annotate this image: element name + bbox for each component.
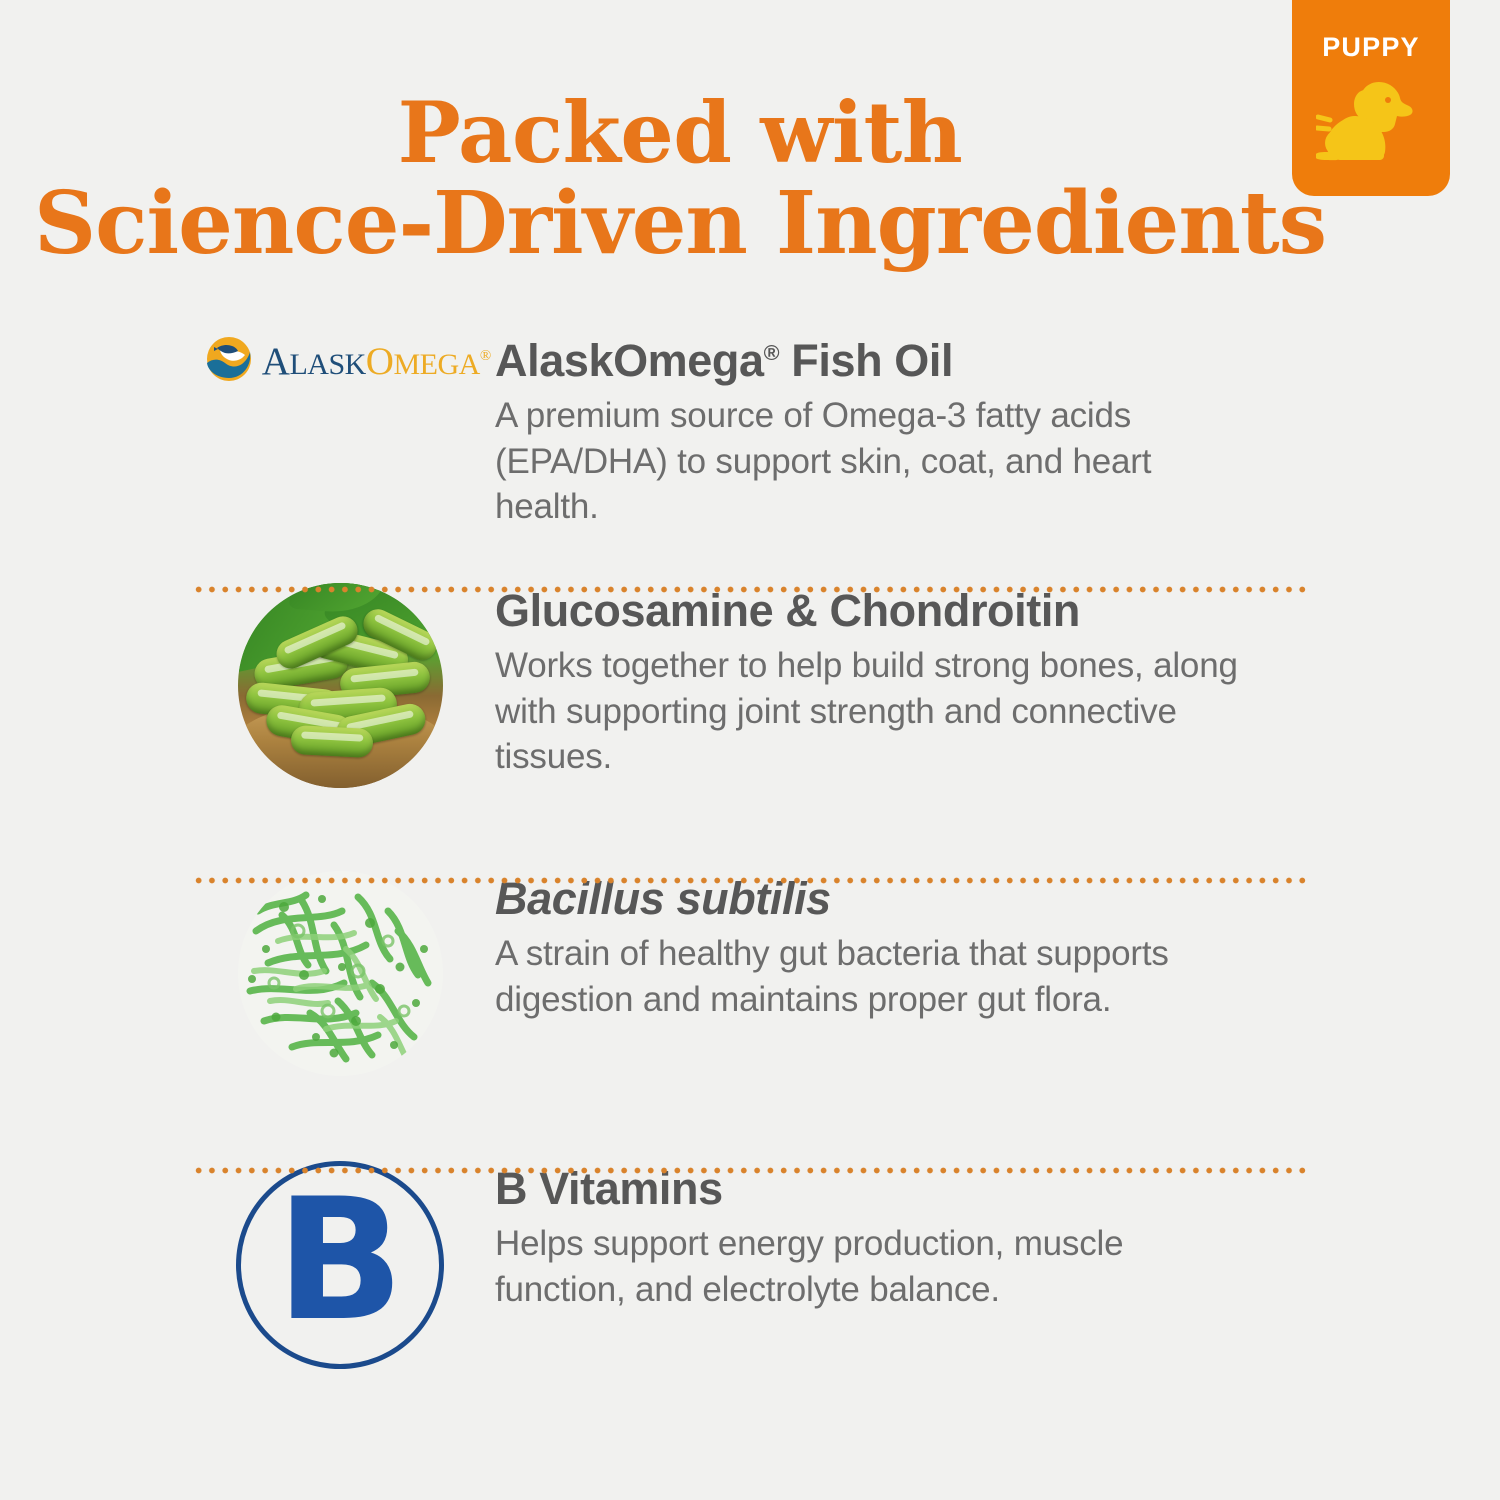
section-divider <box>192 876 1312 885</box>
list-item: ALASKOMEGA® AlaskOmega® Fish Oil A premi… <box>0 335 1500 583</box>
alaskomega-mark-icon <box>205 335 253 388</box>
alaskomega-logo: ALASKOMEGA® <box>205 335 491 388</box>
ingredient-description: A premium source of Omega-3 fatty acids … <box>495 393 1250 530</box>
ingredient-text: Glucosamine & Chondroitin Works together… <box>495 583 1500 780</box>
alaskomega-word-1: ALASK <box>262 340 366 383</box>
list-item: Bacillus subtilis A strain of healthy gu… <box>0 871 1500 1161</box>
ingredient-media <box>185 871 495 1076</box>
ingredient-description: Works together to help build strong bone… <box>495 643 1275 780</box>
page-title: Packed with Science-Driven Ingredients <box>0 88 1360 270</box>
b-vitamin-icon: B <box>236 1161 444 1369</box>
ingredient-text: AlaskOmega® Fish Oil A premium source of… <box>495 335 1500 530</box>
ingredient-text: B Vitamins Helps support energy producti… <box>495 1161 1500 1312</box>
ingredient-description: A strain of healthy gut bacteria that su… <box>495 931 1245 1022</box>
section-divider <box>192 585 1312 594</box>
page-title-line-2: Science-Driven Ingredients <box>0 178 1360 270</box>
b-vitamin-letter: B <box>276 1176 404 1344</box>
alaskomega-word-2: OMEGA <box>366 340 480 383</box>
registered-mark: ® <box>480 348 491 364</box>
alaskomega-wordmark: ALASKOMEGA® <box>262 342 491 381</box>
ingredient-title-rest: Fish Oil <box>779 335 953 386</box>
puppy-badge-label: PUPPY <box>1292 32 1450 63</box>
ingredient-title: Glucosamine & Chondroitin <box>495 587 1275 634</box>
ingredient-media <box>185 583 495 788</box>
list-item: B B Vitamins Helps support energy produc… <box>0 1161 1500 1411</box>
ingredient-media: B <box>185 1161 495 1369</box>
section-divider <box>192 1166 1312 1175</box>
ingredient-title-main: AlaskOmega <box>495 335 764 386</box>
ingredient-media: ALASKOMEGA® <box>185 335 495 388</box>
ingredient-title-sup: ® <box>764 340 780 365</box>
ingredient-description: Helps support energy production, muscle … <box>495 1221 1215 1312</box>
ingredients-list: ALASKOMEGA® AlaskOmega® Fish Oil A premi… <box>0 335 1500 1411</box>
list-item: Glucosamine & Chondroitin Works together… <box>0 583 1500 871</box>
bacteria-microscopy-photo <box>238 871 443 1076</box>
page-title-line-1: Packed with <box>0 88 1360 178</box>
green-capsules-photo <box>238 583 443 788</box>
ingredient-title: AlaskOmega® Fish Oil <box>495 337 1250 384</box>
ingredient-text: Bacillus subtilis A strain of healthy gu… <box>495 871 1500 1022</box>
